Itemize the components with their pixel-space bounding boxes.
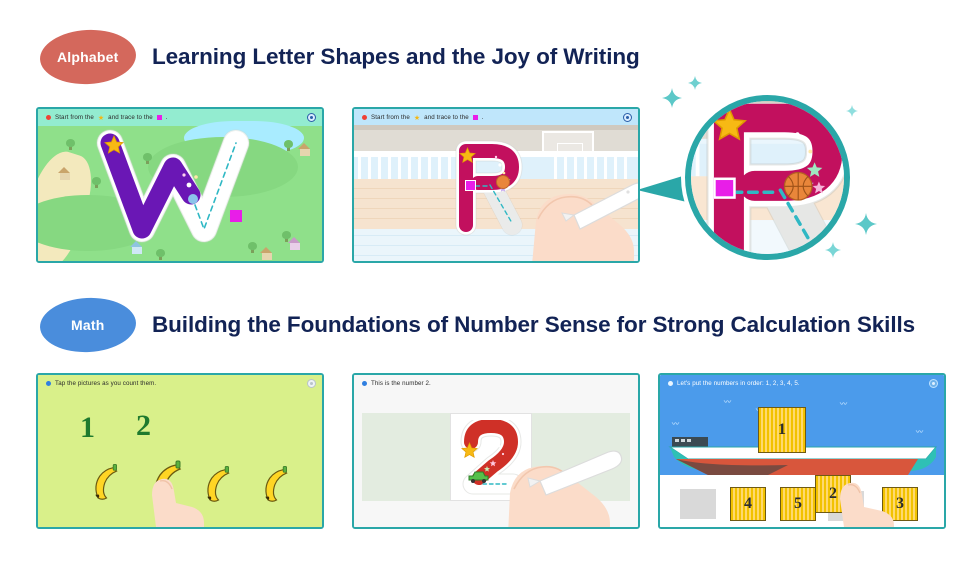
sparkle-icon <box>855 213 877 235</box>
prompt-text-part3: . <box>482 114 484 121</box>
star-glyph-icon: ★ <box>98 114 104 122</box>
screenshot-card-count-bananas[interactable]: 1 2 <box>36 373 324 529</box>
screenshot-card-trace-number-2[interactable]: This is the number 2. <box>352 373 640 529</box>
house-icon <box>298 143 311 156</box>
start-star-icon <box>104 135 124 155</box>
start-star-icon <box>712 108 747 143</box>
basketball-icon <box>783 171 813 201</box>
prompt-text: Tap the pictures as you count them. <box>55 380 156 387</box>
magnified-scene <box>685 95 850 260</box>
banana-icon[interactable] <box>258 463 300 505</box>
star-glyph-icon: ★ <box>414 114 420 122</box>
gym-roof-edge <box>685 96 850 102</box>
crate-number: 1 <box>778 421 786 439</box>
crate-loaded[interactable]: 1 <box>758 407 806 453</box>
badge-alphabet-label: Alphabet <box>57 49 119 65</box>
screenshot-card-trace-w[interactable]: Start from the ★ and trace to the . <box>36 107 324 263</box>
scene-ship-loading: 〰 〰 〰 〰 〰 1 4 <box>660 375 944 527</box>
settings-icon[interactable] <box>307 379 316 388</box>
empty-slot[interactable] <box>680 489 716 519</box>
prompt-text: This is the number 2. <box>371 380 431 387</box>
prompt-bar: This is the number 2. <box>354 375 638 392</box>
hand-dragging-icon <box>824 469 904 527</box>
status-dot-icon <box>668 381 673 386</box>
start-star-icon <box>461 442 478 459</box>
scene-number-trace <box>354 375 638 527</box>
scene-counting: 1 2 <box>38 375 322 527</box>
page-root: Alphabet Learning Letter Shapes and the … <box>0 0 980 570</box>
prompt-text-part3: . <box>166 114 168 121</box>
section-header-alphabet: Alphabet Learning Letter Shapes and the … <box>40 30 640 84</box>
wave-icon: 〰 <box>672 419 679 429</box>
crate-number: 5 <box>794 495 802 513</box>
square-glyph-icon <box>157 115 162 120</box>
count-number-2: 2 <box>136 411 151 441</box>
sparkle-icon <box>688 76 702 90</box>
tree-icon <box>284 140 293 151</box>
tree-icon <box>66 139 75 150</box>
scene-gym <box>354 109 638 261</box>
prompt-bar: Let's put the numbers in order: 1, 2, 3,… <box>660 375 944 392</box>
house-icon <box>260 247 273 260</box>
scene-grass-field <box>38 109 322 261</box>
settings-icon[interactable] <box>623 113 632 122</box>
screenshot-card-order-numbers[interactable]: 〰 〰 〰 〰 〰 1 4 <box>658 373 946 529</box>
prompt-bar: Start from the ★ and trace to the . <box>38 109 322 126</box>
screenshot-card-trace-r[interactable]: Start from the ★ and trace to the . <box>352 107 640 263</box>
banana-icon[interactable] <box>88 461 130 503</box>
prompt-text-part1: Start from the <box>55 114 94 121</box>
badge-math-label: Math <box>71 317 104 333</box>
end-square-marker <box>465 180 476 191</box>
count-number-1: 1 <box>80 413 95 443</box>
tree-icon <box>248 242 257 253</box>
hand-tapping-icon <box>130 459 216 527</box>
house-icon <box>58 167 71 180</box>
crate-tray-item[interactable]: 4 <box>730 487 766 521</box>
prompt-bar: Tap the pictures as you count them. <box>38 375 322 392</box>
hand-with-stylus <box>502 155 640 263</box>
start-star-icon <box>459 147 476 164</box>
section-header-math: Math Building the Foundations of Number … <box>40 298 915 352</box>
badge-math: Math <box>39 296 138 355</box>
square-glyph-icon <box>473 115 478 120</box>
section-title-alphabet: Learning Letter Shapes and the Joy of Wr… <box>152 44 640 70</box>
hand-with-stylus <box>480 431 630 529</box>
wave-icon: 〰 <box>724 397 731 407</box>
section-title-math: Building the Foundations of Number Sense… <box>152 312 915 338</box>
status-dot-icon <box>46 381 51 386</box>
wave-icon: 〰 <box>840 399 847 409</box>
prompt-text-part1: Start from the <box>371 114 410 121</box>
settings-icon[interactable] <box>929 379 938 388</box>
status-dot-icon <box>362 381 367 386</box>
end-square-marker <box>230 210 242 222</box>
crate-number: 4 <box>744 495 752 513</box>
sparkle-icon <box>662 88 682 108</box>
tree-icon <box>282 231 291 242</box>
prompt-bar: Start from the ★ and trace to the . <box>354 109 638 126</box>
prompt-text-part2: and trace to the <box>108 114 153 121</box>
crate-tray-item[interactable]: 5 <box>780 487 816 521</box>
tree-icon <box>156 249 165 260</box>
badge-alphabet: Alphabet <box>39 28 138 87</box>
status-dot-icon <box>362 115 367 120</box>
prompt-text: Let's put the numbers in order: 1, 2, 3,… <box>677 380 800 387</box>
sparkle-icon <box>846 105 858 117</box>
status-dot-icon <box>46 115 51 120</box>
settings-icon[interactable] <box>307 113 316 122</box>
prompt-text-part2: and trace to the <box>424 114 469 121</box>
end-square-marker <box>713 178 736 199</box>
sparkle-icon <box>825 242 841 258</box>
magnifier-detail-r <box>685 95 850 260</box>
